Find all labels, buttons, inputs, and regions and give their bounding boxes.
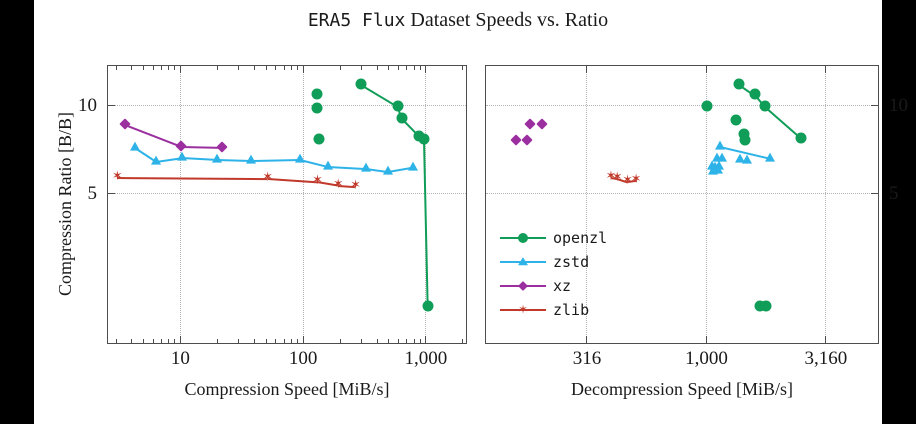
x-axis-tick-label: 10	[171, 348, 190, 370]
data-point-zlib: ✶	[333, 177, 344, 190]
data-point-zstd	[361, 162, 371, 171]
x-axis-minor-tick	[420, 339, 421, 343]
x-axis-minor-tick	[116, 66, 117, 70]
x-axis-minor-tick	[153, 339, 154, 343]
x-axis-minor-tick	[361, 339, 362, 343]
data-point-openzl-unconnected	[730, 114, 741, 125]
legend-line-xz	[500, 285, 546, 287]
x-axis-tick-label: 100	[289, 348, 318, 370]
x-axis-major-tick	[425, 336, 426, 343]
data-point-zstd	[323, 160, 333, 169]
x-axis-minor-tick	[462, 66, 463, 70]
legend-item-xz[interactable]: xz	[500, 274, 607, 298]
data-point-zlib: ✶	[262, 170, 273, 183]
data-point-zstd-cluster	[707, 160, 717, 169]
x-axis-minor-tick	[275, 66, 276, 70]
data-point-openzl	[423, 301, 434, 312]
x-axis-minor-tick	[217, 66, 218, 70]
title-mono-part: ERA5 Flux	[308, 10, 406, 31]
data-point-zstd-cluster	[710, 161, 720, 170]
data-point-openzl-unconnected	[739, 134, 750, 145]
y-axis-tick-label: 10	[889, 95, 908, 117]
data-point-xz	[120, 119, 131, 130]
data-point-zstd	[212, 153, 222, 162]
data-point-openzl	[396, 113, 407, 124]
gridline-vertical	[706, 66, 707, 343]
gridline-vertical	[180, 66, 181, 343]
x-axis-minor-tick	[143, 339, 144, 343]
gridline-horizontal	[108, 193, 466, 194]
legend-item-zstd[interactable]: zstd	[500, 250, 607, 274]
x-axis-major-tick	[180, 66, 181, 73]
x-axis-minor-tick	[414, 66, 415, 70]
series-line-zlib	[317, 181, 338, 186]
x-axis-minor-tick	[406, 339, 407, 343]
x-axis-major-tick	[425, 66, 426, 73]
x-axis-minor-tick	[168, 66, 169, 70]
data-point-zstd-line	[715, 141, 725, 150]
data-point-zlib: ✶	[631, 173, 642, 186]
data-point-zstd-cluster	[708, 166, 718, 175]
x-axis-major-tick	[706, 336, 707, 343]
series-line-zlib	[338, 185, 355, 188]
series-line-zlib	[617, 178, 628, 183]
data-point-zstd-cluster	[713, 165, 723, 174]
legend-swatch-xz	[500, 279, 546, 293]
x-axis-title: Compression Speed [MiB/s]	[107, 378, 467, 400]
series-line-zstd	[366, 168, 388, 173]
x-axis-minor-tick	[143, 66, 144, 70]
x-axis-tick-label: 316	[573, 348, 602, 370]
x-axis-minor-tick	[238, 339, 239, 343]
x-axis-major-tick	[586, 66, 587, 73]
data-point-zstd	[383, 166, 393, 175]
series-line-openzl	[764, 107, 802, 140]
x-axis-minor-tick	[174, 339, 175, 343]
series-line-zstd	[300, 159, 328, 168]
x-axis-minor-tick	[291, 66, 292, 70]
chart-legend: openzlzstdxz✶zlib	[500, 226, 607, 322]
x-axis-minor-tick	[116, 339, 117, 343]
data-point-zstd-line	[765, 152, 775, 161]
x-axis-major-tick	[303, 336, 304, 343]
series-line-zlib	[117, 177, 267, 180]
x-axis-minor-tick	[388, 339, 389, 343]
x-axis-major-tick	[303, 66, 304, 73]
legend-label-openzl: openzl	[553, 226, 607, 250]
x-axis-minor-tick	[254, 66, 255, 70]
legend-item-openzl[interactable]: openzl	[500, 226, 607, 250]
data-point-openzl-unconnected	[312, 88, 323, 99]
legend-item-zlib[interactable]: ✶zlib	[500, 298, 607, 322]
x-axis-major-tick	[825, 66, 826, 73]
x-axis-tick-label: 1,000	[685, 348, 728, 370]
data-point-openzl	[749, 89, 760, 100]
legend-swatch-zstd	[500, 255, 546, 269]
data-point-zlib: ✶	[612, 170, 623, 183]
x-axis-minor-tick	[168, 339, 169, 343]
data-point-openzl	[419, 134, 430, 145]
x-axis-major-tick	[706, 66, 707, 73]
legend-line-openzl	[500, 237, 546, 239]
x-axis-minor-tick	[131, 339, 132, 343]
x-axis-minor-tick	[161, 339, 162, 343]
data-point-zstd-cluster	[735, 153, 745, 162]
legend-line-zlib	[500, 309, 546, 311]
data-point-xz	[176, 140, 187, 151]
gridline-vertical	[825, 66, 826, 343]
decompression-plot-panel: ✶✶✶✶openzlzstdxz✶zlib	[485, 65, 879, 344]
series-line-zlib	[627, 180, 636, 183]
data-point-openzl	[413, 130, 424, 141]
x-axis-major-tick	[825, 336, 826, 343]
x-axis-minor-tick	[398, 66, 399, 70]
data-point-xz	[510, 134, 521, 145]
x-axis-minor-tick	[174, 66, 175, 70]
x-axis-minor-tick	[377, 339, 378, 343]
x-axis-minor-tick	[266, 66, 267, 70]
y-axis-major-tick	[871, 105, 878, 106]
x-axis-minor-tick	[275, 339, 276, 343]
x-axis-minor-tick	[254, 339, 255, 343]
data-point-openzl	[734, 78, 745, 89]
y-axis-major-tick	[108, 105, 115, 106]
series-line-xz	[181, 146, 222, 149]
x-axis-title: Decompression Speed [MiB/s]	[485, 378, 879, 400]
gridline-horizontal	[486, 193, 878, 194]
y-axis-major-tick	[871, 193, 878, 194]
series-line-zstd	[251, 159, 300, 162]
data-point-openzl-unconnected	[738, 129, 749, 140]
legend-swatch-zlib: ✶	[500, 303, 546, 317]
gridline-vertical	[425, 66, 426, 343]
x-axis-minor-tick	[406, 66, 407, 70]
x-axis-minor-tick	[297, 66, 298, 70]
legend-label-zlib: zlib	[553, 298, 589, 322]
x-axis-minor-tick	[217, 339, 218, 343]
chart-screenshot: ERA5 Flux Dataset Speeds vs. Ratio ✶✶✶✶✶…	[0, 0, 916, 424]
data-point-xz	[524, 119, 535, 130]
data-point-openzl	[796, 133, 807, 144]
x-axis-minor-tick	[388, 66, 389, 70]
legend-line-zstd	[500, 261, 546, 263]
series-line-zstd	[134, 147, 156, 163]
data-point-zstd	[246, 154, 256, 163]
series-line-openzl	[739, 84, 755, 96]
series-line-openzl	[361, 84, 399, 108]
x-axis-minor-tick	[420, 66, 421, 70]
series-line-zstd	[217, 159, 251, 162]
data-point-zlib: ✶	[605, 169, 616, 182]
data-point-zstd	[130, 141, 140, 150]
series-line-xz	[125, 124, 182, 148]
data-point-xz	[521, 134, 532, 145]
x-axis-tick-label: 3,160	[804, 348, 847, 370]
data-point-xz	[536, 119, 547, 130]
gridline-vertical	[303, 66, 304, 343]
compression-plot-panel: ✶✶✶✶✶	[107, 65, 467, 344]
legend-label-xz: xz	[553, 274, 571, 298]
right-edge-bar	[882, 0, 916, 424]
x-axis-minor-tick	[361, 66, 362, 70]
data-point-openzl	[759, 101, 770, 112]
series-line-zlib	[611, 177, 618, 180]
data-point-zstd	[151, 155, 161, 164]
data-point-zlib: ✶	[622, 174, 633, 187]
y-axis-major-tick	[108, 193, 115, 194]
data-point-zstd-cluster	[714, 160, 724, 169]
title-serif-part: Dataset Speeds vs. Ratio	[410, 9, 608, 31]
x-axis-minor-tick	[161, 66, 162, 70]
series-line-zstd	[328, 166, 367, 170]
x-axis-major-tick	[180, 336, 181, 343]
x-axis-minor-tick	[131, 66, 132, 70]
x-axis-minor-tick	[414, 339, 415, 343]
x-axis-major-tick	[586, 336, 587, 343]
x-axis-minor-tick	[284, 66, 285, 70]
series-line-openzl	[401, 119, 419, 138]
data-point-openzl	[356, 78, 367, 89]
series-line-zstd-line	[719, 146, 770, 160]
x-axis-minor-tick	[291, 339, 292, 343]
series-line-openzl	[418, 136, 425, 141]
data-point-zstd-cluster	[712, 152, 722, 161]
y-axis-title: Compression Ratio [B/B]	[54, 64, 76, 344]
data-point-zlib: ✶	[350, 179, 361, 192]
x-axis-minor-tick	[377, 66, 378, 70]
x-axis-minor-tick	[462, 339, 463, 343]
x-axis-minor-tick	[340, 66, 341, 70]
data-point-openzl-unconnected	[314, 134, 325, 145]
data-point-xz	[216, 141, 227, 152]
data-point-zlib: ✶	[312, 174, 323, 187]
x-axis-minor-tick	[284, 339, 285, 343]
x-axis-minor-tick	[398, 339, 399, 343]
legend-label-zstd: zstd	[553, 250, 589, 274]
left-edge-bar	[0, 0, 34, 424]
x-axis-minor-tick	[340, 339, 341, 343]
chart-title: ERA5 Flux Dataset Speeds vs. Ratio	[0, 6, 916, 35]
x-axis-tick-label: 1,000	[405, 348, 448, 370]
x-axis-minor-tick	[238, 66, 239, 70]
series-line-zlib	[268, 178, 318, 183]
series-line-zstd	[156, 157, 183, 163]
gridline-horizontal	[108, 105, 466, 106]
data-point-openzl-unconnected	[761, 301, 772, 312]
y-axis-tick-label: 5	[889, 183, 899, 205]
x-axis-minor-tick	[266, 339, 267, 343]
data-point-zstd	[408, 161, 418, 170]
data-point-zstd-cluster	[742, 154, 752, 163]
x-axis-minor-tick	[153, 66, 154, 70]
data-point-zstd-cluster	[717, 152, 727, 161]
gridline-horizontal	[486, 105, 878, 106]
data-point-openzl-unconnected	[755, 301, 766, 312]
x-axis-minor-tick	[297, 339, 298, 343]
series-line-zstd	[388, 167, 413, 173]
legend-swatch-openzl	[500, 231, 546, 245]
data-point-zlib: ✶	[112, 169, 123, 182]
series-line-zstd	[182, 157, 216, 161]
series-line-openzl	[397, 106, 402, 119]
